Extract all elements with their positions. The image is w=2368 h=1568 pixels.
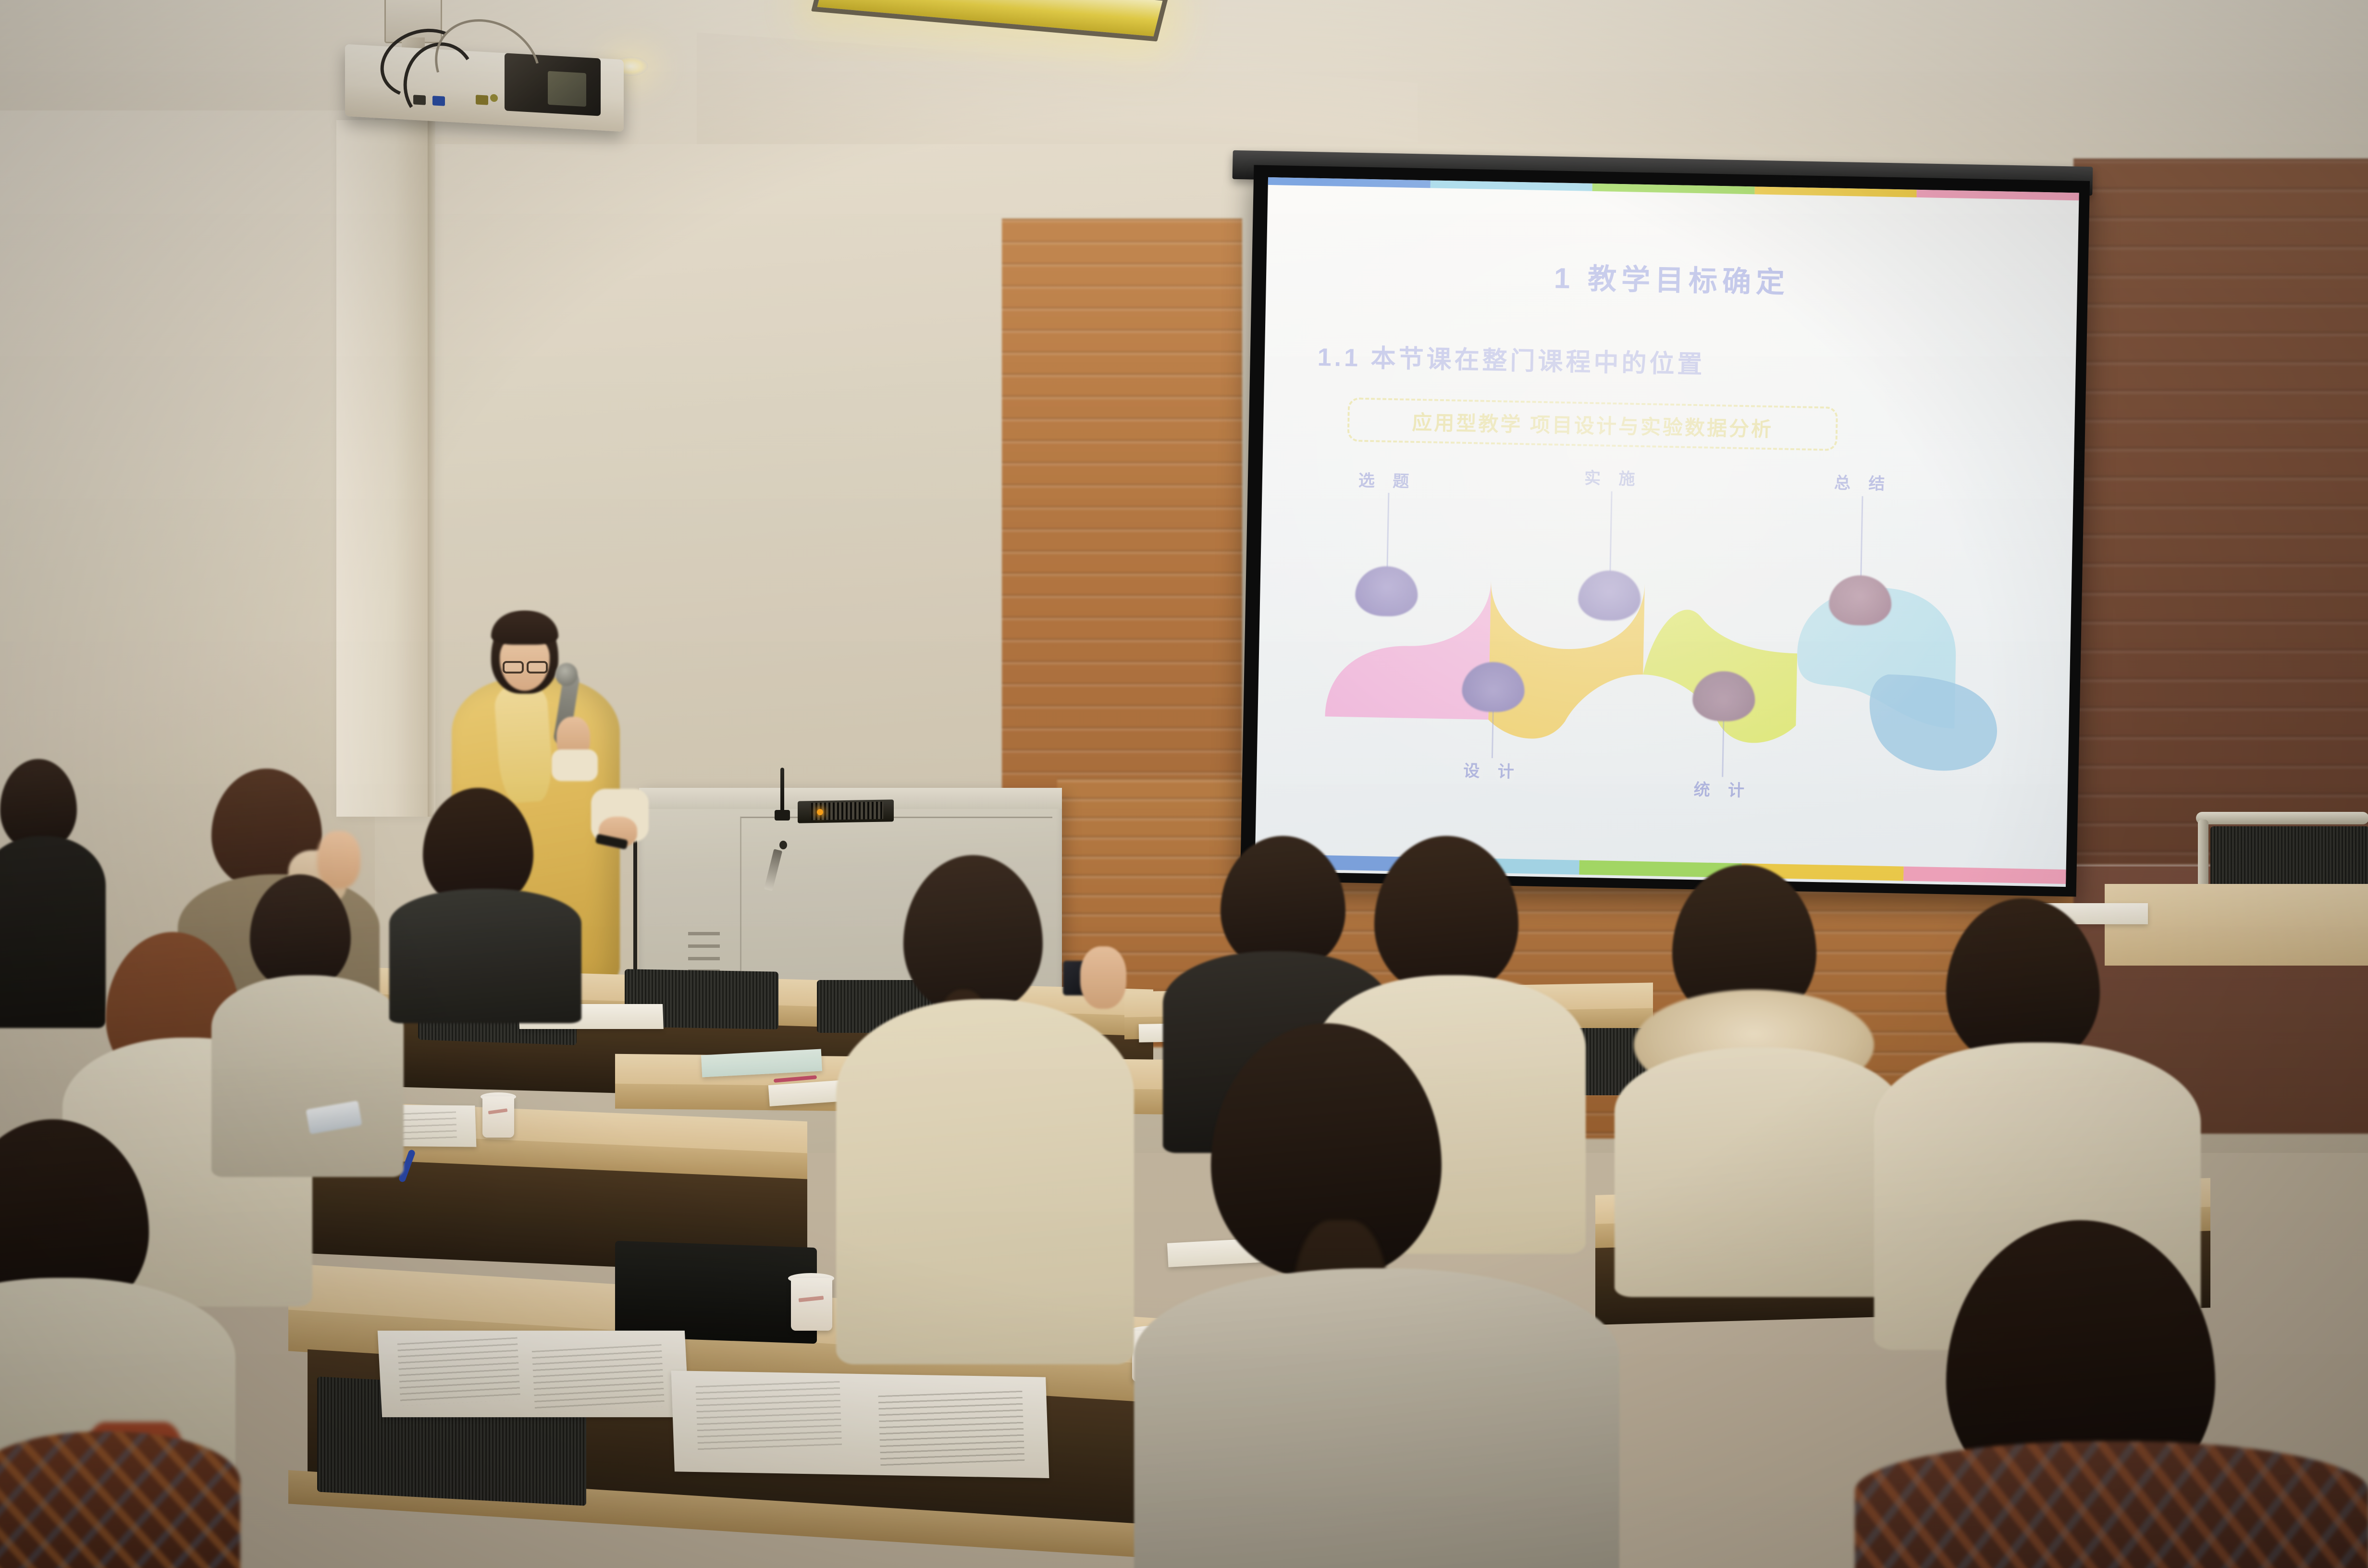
slide-callout-text: 应用型教学 项目设计与实验数据分析 xyxy=(1412,406,1774,442)
flow-label-bottom-1: 设 计 xyxy=(1463,758,1521,782)
pillar-edge xyxy=(428,120,435,817)
audience-body-a xyxy=(0,836,106,1028)
classroom-scene: 1 教学目标确定 1.1 本节课在整门课程中的位置 应用型教学 项目设计与实验数… xyxy=(0,0,2368,1568)
paper-booklet-1-right-text xyxy=(532,1344,665,1413)
desk-far-right-top xyxy=(2105,884,2368,966)
wood-panel-far-right xyxy=(2073,159,2368,865)
chair-back-8 xyxy=(615,1241,817,1344)
flow-label-top-3: 总 结 xyxy=(1834,470,1892,494)
flow-label-bottom-2: 统 计 xyxy=(1693,776,1751,801)
paper-booklet-1-left-text xyxy=(397,1337,520,1406)
flow-label-top-2: 实 施 xyxy=(1584,465,1642,490)
chrome-chair-rail xyxy=(2196,812,2368,824)
presenter-glasses-right xyxy=(527,661,548,674)
audience-b-hand xyxy=(317,831,360,889)
course-flow-diagram: 选 题 实 施 总 结 设 计 统 计 xyxy=(1295,466,2032,826)
paper-booklet-2-left-text xyxy=(696,1381,842,1453)
chrome-chair-post xyxy=(2198,820,2208,887)
audience-g-hand xyxy=(1080,946,1126,1009)
podium-lock xyxy=(779,841,787,849)
slide-title: 1 教学目标确定 xyxy=(1266,249,2077,306)
audience-body-g xyxy=(836,999,1134,1364)
slide-subtitle: 1.1 本节课在整门课程中的位置 xyxy=(1317,337,1705,380)
receiver-antenna-base xyxy=(775,810,790,821)
audience-body-m xyxy=(1855,1441,2368,1568)
projector-lens-glass xyxy=(548,71,586,107)
wave-shapes xyxy=(1295,524,2030,807)
cup-1 xyxy=(482,1096,514,1138)
flow-label-top-1: 选 题 xyxy=(1358,467,1416,492)
audience-body-n xyxy=(0,1432,240,1568)
audience-body-l xyxy=(1134,1268,1619,1568)
slide-callout-box: 应用型教学 项目设计与实验数据分析 xyxy=(1347,397,1838,451)
wall-pillar xyxy=(336,120,432,817)
projection-screen-surface: 1 教学目标确定 1.1 本节课在整门课程中的位置 应用型教学 项目设计与实验数… xyxy=(1255,177,2079,887)
presenter-cuff-left xyxy=(552,749,598,781)
cup-2 xyxy=(791,1278,832,1331)
bar-seg-pink-b xyxy=(1904,867,2066,884)
presenter-glasses-left xyxy=(503,661,524,674)
receiver-power-led xyxy=(817,809,823,815)
audience-body-e xyxy=(211,975,404,1177)
audience-body-j xyxy=(1615,1047,1903,1297)
audience-body-f xyxy=(389,889,581,1023)
receiver-antenna xyxy=(780,768,784,814)
paper-booklet-2-right-text xyxy=(878,1391,1024,1468)
